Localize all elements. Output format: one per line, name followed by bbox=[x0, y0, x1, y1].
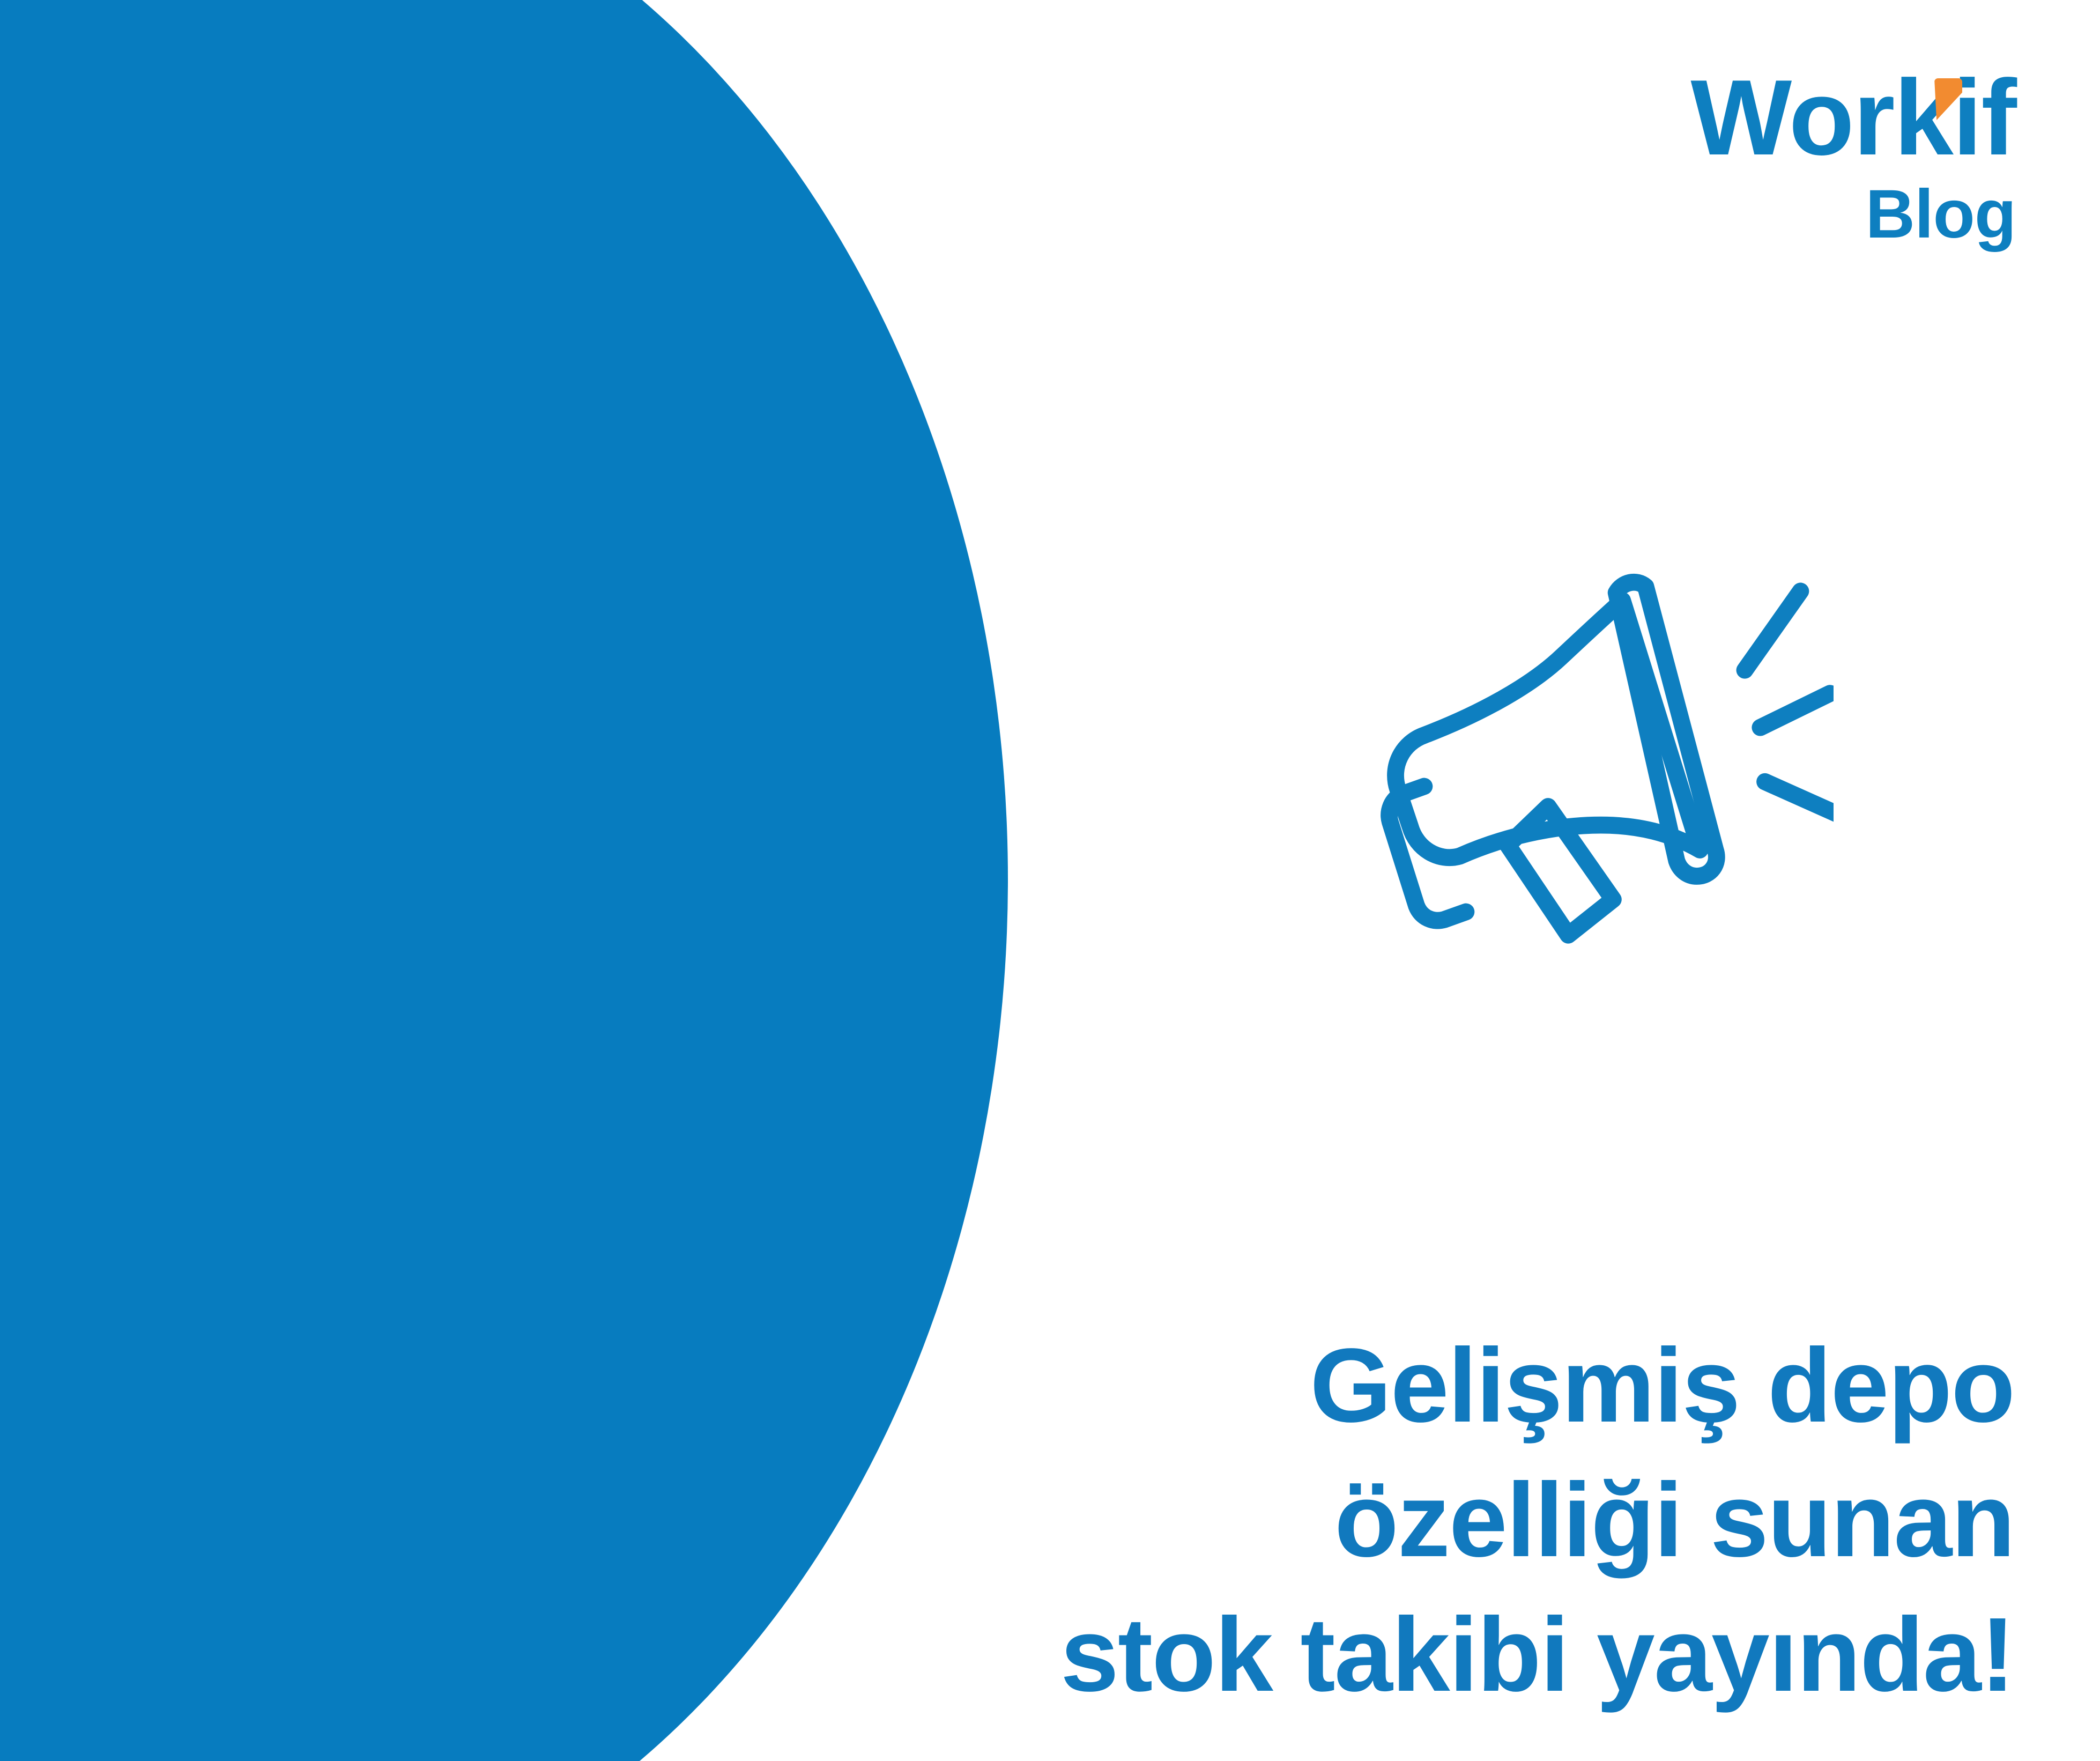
megaphone-icon-svg bbox=[1362, 542, 1834, 960]
brand-wordmark-text: Workif bbox=[1690, 58, 2016, 177]
blue-ellipse-decoration bbox=[0, 0, 1008, 1761]
brand-subtitle: Blog bbox=[1690, 180, 2016, 249]
headline: Gelişmiş depo özelliği sunan stok takibi… bbox=[1060, 1319, 2014, 1722]
megaphone-sound-wave-2 bbox=[1760, 693, 1830, 728]
headline-line-1: Gelişmiş depo bbox=[1060, 1319, 2014, 1453]
promo-card: Workif Blog Gelişmiş depo özelliği sunan… bbox=[0, 0, 2100, 1761]
headline-line-3: stok takibi yayında! bbox=[1060, 1588, 2014, 1722]
brand-lockup: Workif Blog bbox=[1690, 64, 2016, 249]
megaphone-sound-wave-1 bbox=[1745, 591, 1800, 670]
headline-line-2: özelliği sunan bbox=[1060, 1453, 2014, 1588]
megaphone-icon bbox=[1362, 542, 1834, 960]
brand-wordmark: Workif bbox=[1690, 64, 2016, 172]
megaphone-sound-wave-3 bbox=[1765, 782, 1834, 815]
